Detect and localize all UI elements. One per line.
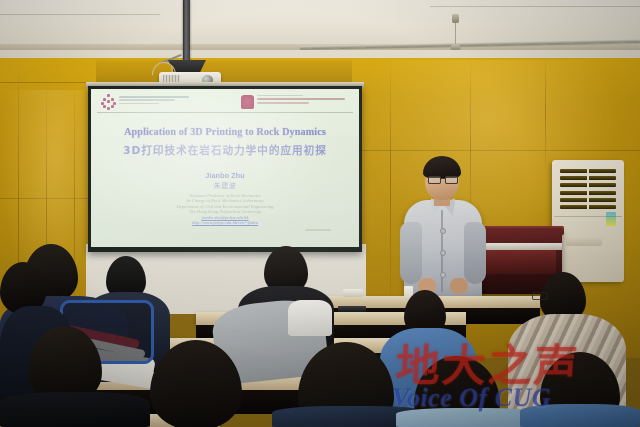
lecture-hall-photo: Application of 3D Printing to Rock Dynam…: [0, 0, 640, 427]
wall-seam: [0, 198, 96, 199]
ceiling-seam: [430, 6, 640, 7]
laptop: [338, 306, 366, 312]
rail-bracket-icon: [452, 14, 459, 23]
slide-footer-mark: [305, 229, 335, 237]
eyeglasses-icon: [428, 176, 441, 184]
rail-wire: [455, 23, 456, 45]
shirt-button-icon: [440, 272, 446, 278]
ac-brand-badge: [566, 238, 602, 246]
paper-sheet: [343, 289, 363, 297]
projector-mount-pole: [183, 0, 190, 66]
slide-author-english: Jianbo Zhu: [91, 171, 359, 180]
polyu-logo-icon: [101, 94, 116, 109]
slide-header: [91, 93, 359, 111]
slide-affiliation-block: Assistant Professor of Rock Mechanics In…: [91, 193, 359, 226]
department-crest-icon: [241, 95, 254, 109]
wall-seam: [0, 82, 96, 83]
ceiling-seam: [0, 14, 160, 15]
audience-body: [0, 392, 150, 427]
ac-vent-divider: [587, 169, 589, 209]
audience-body: [288, 300, 332, 336]
wall-seam: [545, 58, 546, 168]
shirt-button-icon: [440, 228, 446, 234]
ac-panel-seam: [554, 216, 622, 217]
slide-header-rule: [97, 112, 353, 113]
wall-seam: [352, 150, 640, 151]
presenter-arm-left: [400, 222, 422, 284]
presenter-arm-right: [464, 222, 486, 284]
presenter-hand-right: [450, 278, 468, 294]
wall-seam: [74, 80, 75, 330]
slide-website-link[interactable]: http://www.polyu.edu.hk/cee/~jbzhu: [91, 220, 359, 226]
department-logo-caption: [257, 94, 349, 108]
eyeglasses-bridge-icon: [441, 178, 445, 179]
wall-seam: [390, 58, 391, 298]
affiliation-line: The Hong Kong Polytechnic University: [91, 209, 359, 214]
projection-screen-frame: Application of 3D Printing to Rock Dynam…: [88, 86, 362, 252]
eyeglasses-icon: [445, 176, 458, 184]
polyu-logo-caption: [119, 96, 193, 107]
slide-title-english: Application of 3D Printing to Rock Dynam…: [91, 127, 359, 138]
shirt-button-icon: [440, 250, 446, 256]
slide-title-chinese: 3D打印技术在岩石动力学中的应用初探: [91, 143, 359, 158]
slide-author-chinese: 朱建波: [91, 181, 359, 191]
watermark-english: Voice Of CUG: [392, 383, 602, 413]
air-conditioner: [552, 160, 624, 282]
projection-screen: Application of 3D Printing to Rock Dynam…: [91, 89, 359, 247]
eyeglasses-icon: [532, 292, 548, 300]
ac-energy-label-icon: [606, 212, 616, 226]
podium-front-panel: [476, 250, 556, 274]
